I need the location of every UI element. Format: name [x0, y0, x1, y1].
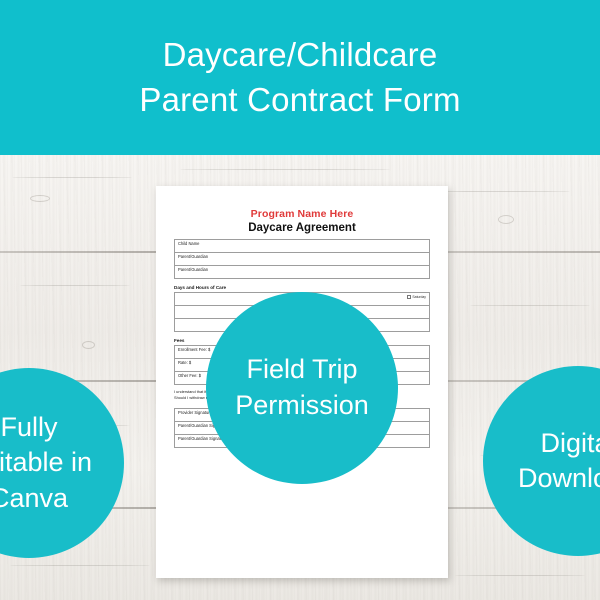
header-banner: Daycare/Childcare Parent Contract Form [0, 0, 600, 155]
field-parent-guardian-1: Parent/Guardian [175, 253, 430, 266]
document-title: Daycare Agreement [174, 222, 430, 234]
section-label-schedule: Days and Hours of Care [174, 285, 430, 290]
checkbox-saturday-label: Saturday [412, 295, 426, 299]
checkbox-saturday[interactable] [407, 295, 411, 299]
badge-field-trip-permission: Field Trip Permission [206, 292, 398, 484]
listing-image: Daycare/Childcare Parent Contract Form P… [0, 0, 600, 600]
badge-center-line1: Field Trip [246, 352, 357, 388]
table-row: Child Name [175, 240, 430, 253]
banner-title-line1: Daycare/Childcare [163, 34, 438, 76]
info-table: Child Name Parent/Guardian Parent/Guardi… [174, 239, 430, 279]
field-parent-guardian-2: Parent/Guardian [175, 266, 430, 279]
badge-right-line1: Digital [540, 426, 600, 461]
table-row: Parent/Guardian [175, 266, 430, 279]
badge-right-line2: Download [518, 461, 600, 496]
program-name-placeholder: Program Name Here [174, 208, 430, 220]
banner-title-line2: Parent Contract Form [139, 79, 460, 121]
table-row: Parent/Guardian [175, 253, 430, 266]
badge-left-line2: Editable in [0, 445, 92, 480]
badge-left-line1: Fully [0, 410, 57, 445]
badge-center-line2: Permission [235, 388, 369, 424]
field-child-name: Child Name [175, 240, 430, 253]
badge-left-line3: Canva [0, 481, 68, 516]
